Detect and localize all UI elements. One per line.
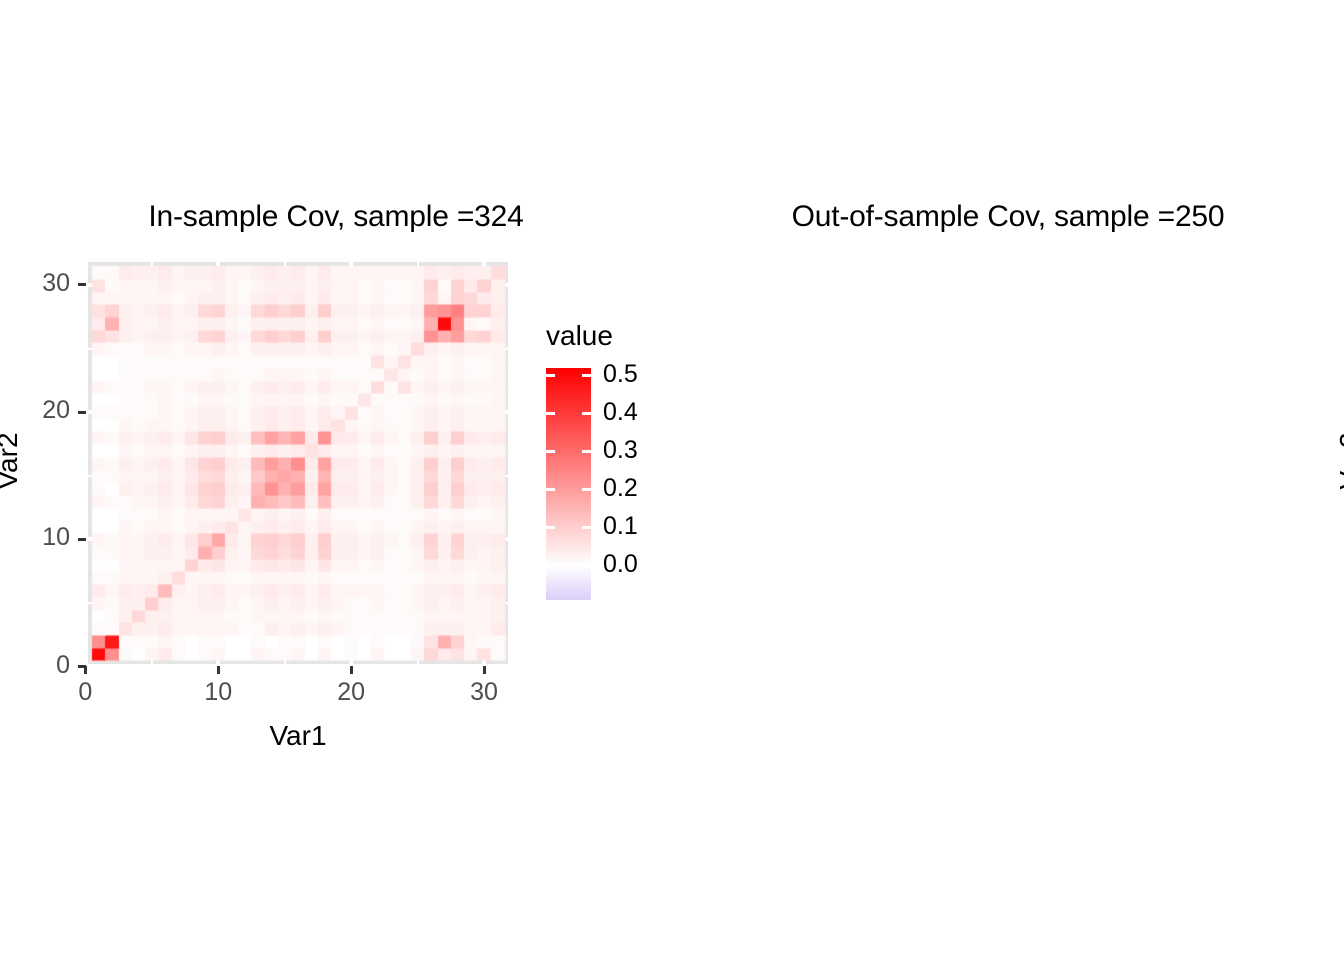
plot-title: Out-of-sample Cov, sample =250 bbox=[672, 200, 1344, 234]
legend-tick bbox=[582, 412, 591, 415]
y-axis-tick-label: 30 bbox=[0, 269, 70, 298]
y-axis-tick-label: 30 bbox=[1312, 269, 1344, 298]
x-axis-tick bbox=[84, 666, 87, 674]
x-axis-tick bbox=[350, 666, 353, 674]
heatmap-matrix bbox=[88, 262, 508, 664]
heatmap-figure: In-sample Cov, sample =324 0102030010203… bbox=[0, 0, 1344, 960]
legend-tick bbox=[546, 488, 555, 491]
legend-tick-label: 0.3 bbox=[603, 436, 638, 465]
x-axis-tick-label: 10 bbox=[168, 678, 268, 707]
y-axis-tick bbox=[78, 283, 86, 286]
legend-tick-label: 0.1 bbox=[603, 512, 638, 541]
x-axis-title: Var1 bbox=[88, 720, 508, 752]
legend-tick bbox=[582, 374, 591, 377]
legend-tick bbox=[546, 526, 555, 529]
legend-tick bbox=[546, 374, 555, 377]
legend-tick-label: 0.5 bbox=[603, 360, 638, 389]
legend-tick bbox=[582, 488, 591, 491]
plot-panel-out-of-sample: Out-of-sample Cov, sample =250 010203001… bbox=[672, 0, 1344, 960]
legend-tick-label: 0.4 bbox=[603, 398, 638, 427]
y-axis-tick bbox=[78, 411, 86, 414]
x-axis-tick bbox=[483, 666, 486, 674]
plot-title: In-sample Cov, sample =324 bbox=[0, 200, 672, 234]
heatmap-panel bbox=[88, 262, 508, 664]
legend-title: value bbox=[546, 320, 613, 352]
legend-tick-label: 0.2 bbox=[603, 474, 638, 503]
legend-tick bbox=[546, 412, 555, 415]
y-axis-title: Var2 bbox=[1334, 361, 1344, 561]
y-axis-tick-label: 0 bbox=[0, 651, 70, 680]
legend-tick bbox=[582, 450, 591, 453]
legend-tick bbox=[546, 450, 555, 453]
y-axis-tick-label: 0 bbox=[1312, 651, 1344, 680]
legend-tick bbox=[582, 564, 591, 567]
x-axis-tick bbox=[217, 666, 220, 674]
y-axis-tick bbox=[78, 538, 86, 541]
legend-tick bbox=[582, 526, 591, 529]
legend-tick-label: 0.0 bbox=[603, 550, 638, 579]
x-axis-tick-label: 30 bbox=[434, 678, 534, 707]
plot-panel-in-sample: In-sample Cov, sample =324 0102030010203… bbox=[0, 0, 672, 960]
x-axis-tick-label: 0 bbox=[35, 678, 135, 707]
y-axis-title: Var2 bbox=[0, 361, 24, 561]
x-axis-tick-label: 20 bbox=[301, 678, 401, 707]
legend-tick bbox=[546, 564, 555, 567]
